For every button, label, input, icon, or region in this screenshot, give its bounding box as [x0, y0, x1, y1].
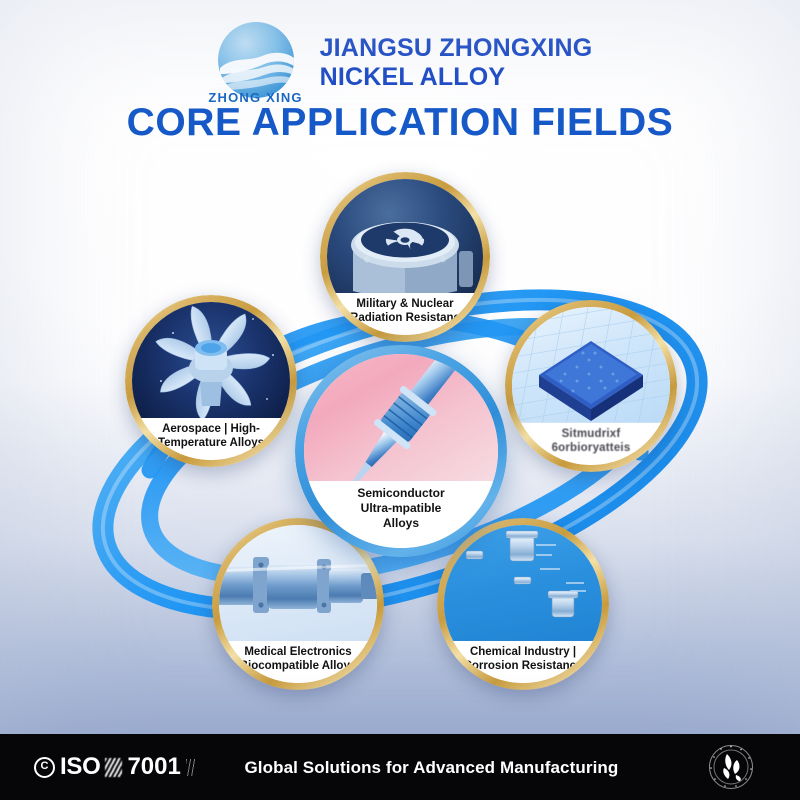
center-inner: Semiconductor Ultra-mpatible Alloys: [304, 354, 498, 548]
brand-header: ZHONG XING JIANGSU ZHONGXING NICKEL ALLO…: [0, 22, 800, 104]
node-chemical-industry[interactable]: Chemical Industry | Corrosion Resistance: [437, 518, 609, 690]
turbine-impeller-icon: [132, 302, 290, 418]
copyright-icon: C: [34, 757, 55, 778]
node-inner: Medical Electronics Biocompatible Alloys: [219, 525, 377, 683]
company-name-line2: NICKEL ALLOY: [320, 63, 593, 93]
node-aerospace[interactable]: Aerospace | High- Temperature Alloys: [125, 295, 297, 467]
logo-wave-mark: [218, 22, 294, 98]
footer-bar: C ISO 7001 Global Solutions for Advanced…: [0, 734, 800, 800]
precision-needle-probe-icon: [304, 354, 498, 481]
radiation-reactor-icon: [327, 179, 483, 293]
center-label-line1: Semiconductor: [318, 486, 484, 501]
iso-trailing-artifact: [186, 759, 195, 776]
node-label-line1: Military & Nuclear: [337, 297, 473, 311]
node-semiconductor-center[interactable]: Semiconductor Ultra-mpatible Alloys: [295, 345, 507, 557]
node-label-line1: Sitmudrixf: [522, 427, 660, 441]
certification-seal-emblem: [708, 744, 754, 790]
footer-tagline: Global Solutions for Advanced Manufactur…: [155, 759, 708, 776]
node-military-nuclear[interactable]: Military & Nuclear | Radiation Resistanc…: [320, 172, 490, 342]
node-inner: Chemical Industry | Corrosion Resistance: [444, 525, 602, 683]
node-inner: Military & Nuclear | Radiation Resistanc…: [327, 179, 483, 335]
node-label-line2: 6orbioryatteis: [522, 441, 660, 455]
node-inner: Sitmudrixf 6orbioryatteis: [512, 307, 670, 465]
company-name-line1: JIANGSU ZHONGXING: [320, 34, 593, 64]
node-label: Sitmudrixf 6orbioryatteis: [512, 423, 670, 465]
pipework-valves-icon: [444, 525, 602, 641]
iso-label: ISO: [60, 755, 100, 779]
infographic-poster: ZHONG XING JIANGSU ZHONGXING NICKEL ALLO…: [0, 0, 800, 800]
iso-smear-glyph: [105, 758, 122, 777]
node-semiconductor-wafer[interactable]: Sitmudrixf 6orbioryatteis: [505, 300, 677, 472]
center-label-line3: Alloys: [318, 516, 484, 531]
node-label-line1: Aerospace | High-: [142, 422, 280, 436]
company-logo: ZHONG XING: [208, 22, 304, 104]
silicon-chip-icon: [512, 307, 670, 423]
center-label-line2: Ultra-mpatible: [318, 501, 484, 516]
page-title: CORE APPLICATION FIELDS: [0, 103, 800, 142]
company-name: JIANGSU ZHONGXING NICKEL ALLOY: [320, 34, 593, 93]
node-label-line1: Chemical Industry |: [454, 645, 592, 659]
node-label-line1: Medical Electronics: [229, 645, 367, 659]
node-inner: Aerospace | High- Temperature Alloys: [132, 302, 290, 460]
